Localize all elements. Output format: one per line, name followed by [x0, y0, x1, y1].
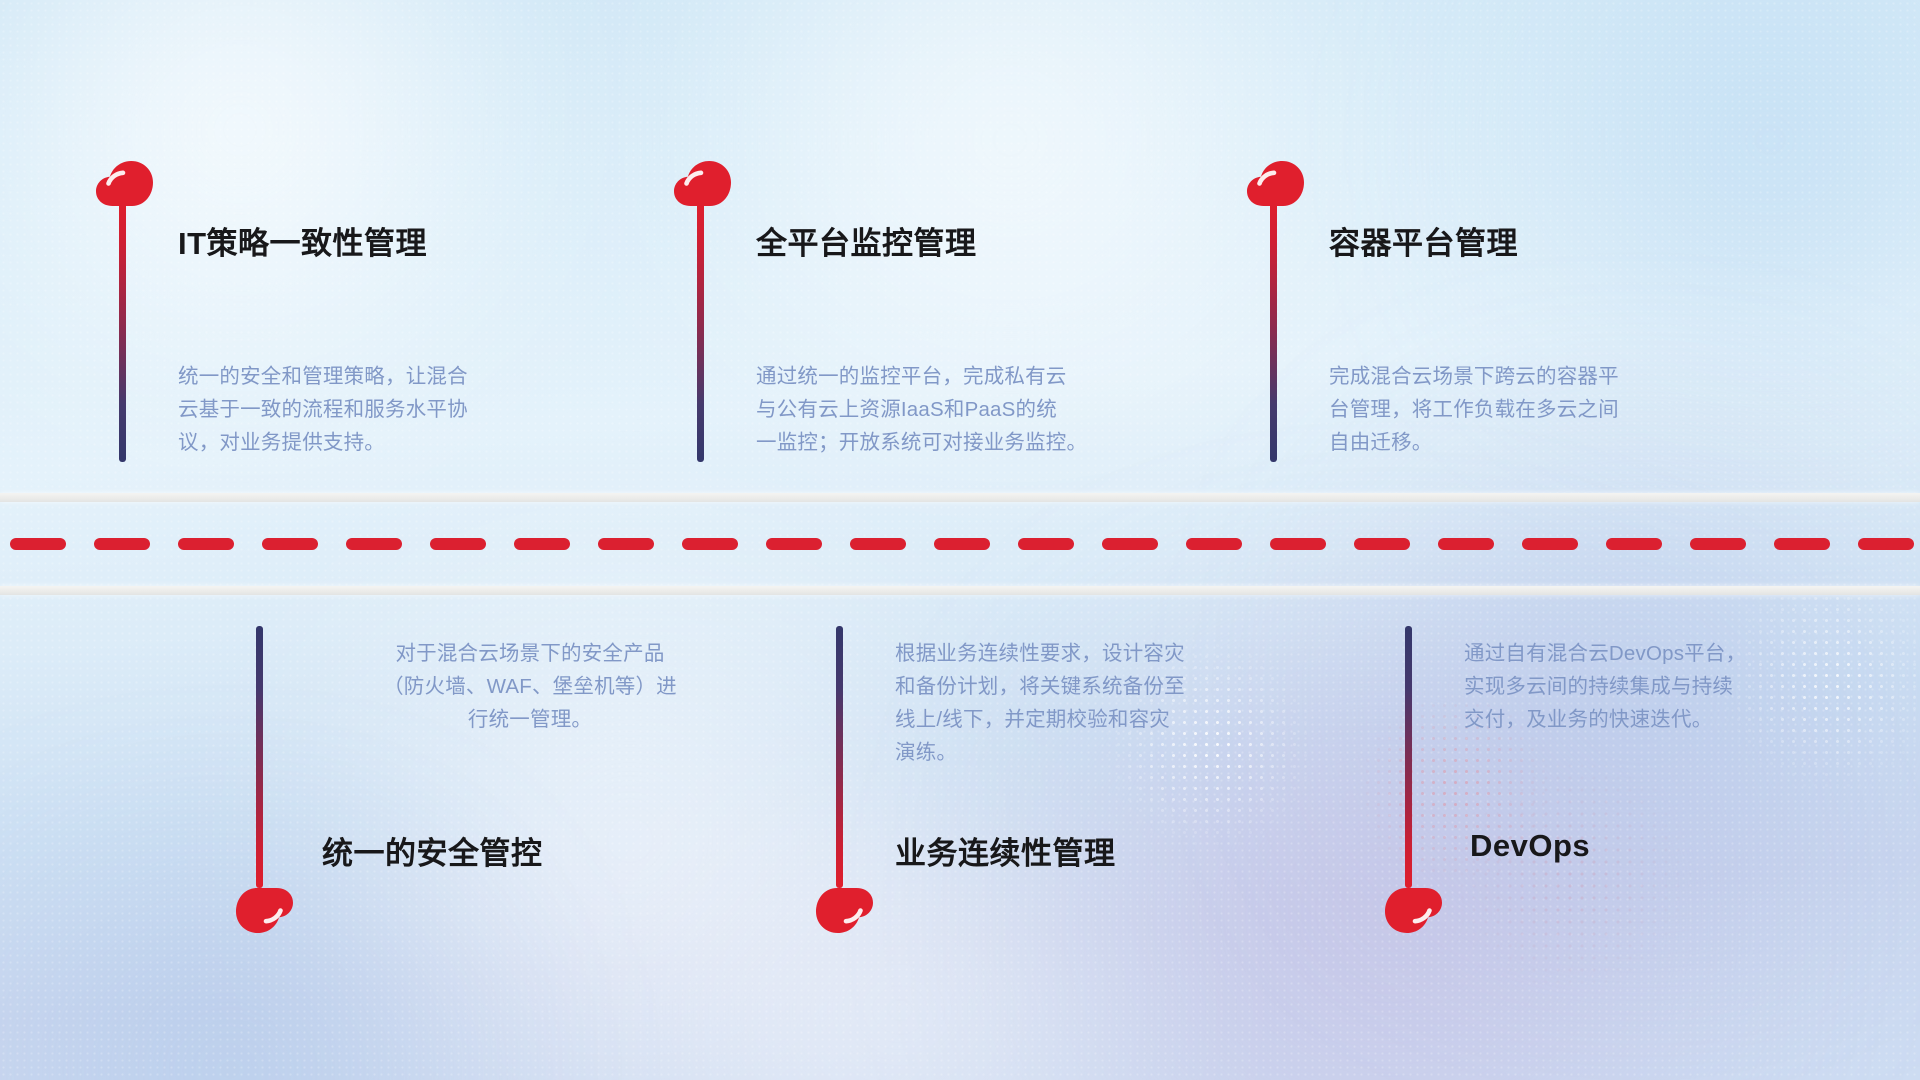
pin-stem [1405, 626, 1412, 888]
road-dash [1690, 538, 1746, 550]
road-dash [1018, 538, 1074, 550]
road-dash [1522, 538, 1578, 550]
road-dash [1354, 538, 1410, 550]
road-dash [766, 538, 822, 550]
card-title: 全平台监控管理 [756, 218, 977, 263]
road-dash [346, 538, 402, 550]
card-body: 通过统一的监控平台，完成私有云 与公有云上资源IaaS和PaaS的统 一监控；开… [756, 360, 1196, 459]
road-dash [514, 538, 570, 550]
card-body: 完成混合云场景下跨云的容器平 台管理，将工作负载在多云之间 自由迁移。 [1329, 360, 1759, 459]
card-title: 统一的安全管控 [322, 828, 543, 873]
card-title: 业务连续性管理 [895, 828, 1116, 873]
cloud-pin-icon [95, 160, 157, 208]
road-dash [850, 538, 906, 550]
card-body: 通过自有混合云DevOps平台， 实现多云间的持续集成与持续 交付，及业务的快速… [1464, 637, 1894, 736]
road-dash [1270, 538, 1326, 550]
cloud-pin-icon [1246, 160, 1308, 208]
card-title: DevOps [1470, 828, 1590, 864]
road-dash [682, 538, 738, 550]
card-body: 统一的安全和管理策略，让混合 云基于一致的流程和服务水平协 议，对业务提供支持。 [178, 360, 608, 459]
pin-stem [836, 626, 843, 888]
card-title: IT策略一致性管理 [178, 218, 427, 263]
road-dash [1858, 538, 1914, 550]
road-dash [934, 538, 990, 550]
road-dash [178, 538, 234, 550]
cloud-pin-icon [1381, 886, 1443, 934]
infographic-canvas: IT策略一致性管理 统一的安全和管理策略，让混合 云基于一致的流程和服务水平协 … [0, 0, 1920, 1080]
road-dash [1102, 538, 1158, 550]
road-dash [1606, 538, 1662, 550]
road-dash [10, 538, 66, 550]
pin-stem [697, 200, 704, 462]
cloud-pin-icon [232, 886, 294, 934]
road-dash [1438, 538, 1494, 550]
road-dash [262, 538, 318, 550]
road-edge-top [0, 493, 1920, 502]
road-dash [94, 538, 150, 550]
card-title: 容器平台管理 [1329, 218, 1518, 263]
cloud-pin-icon [673, 160, 735, 208]
card-body: 对于混合云场景下的安全产品 （防火墙、WAF、堡垒机等）进 行统一管理。 [315, 637, 745, 736]
pin-stem [119, 200, 126, 462]
road-dash [598, 538, 654, 550]
cloud-pin-icon [812, 886, 874, 934]
card-body: 根据业务连续性要求，设计容灾 和备份计划，将关键系统备份至 线上/线下，并定期校… [895, 637, 1325, 769]
pin-stem [256, 626, 263, 888]
road-dash [430, 538, 486, 550]
pin-stem [1270, 200, 1277, 462]
road-dashed-centerline [0, 538, 1920, 550]
road-dash [1186, 538, 1242, 550]
road-dash [1774, 538, 1830, 550]
road-edge-bottom [0, 586, 1920, 595]
